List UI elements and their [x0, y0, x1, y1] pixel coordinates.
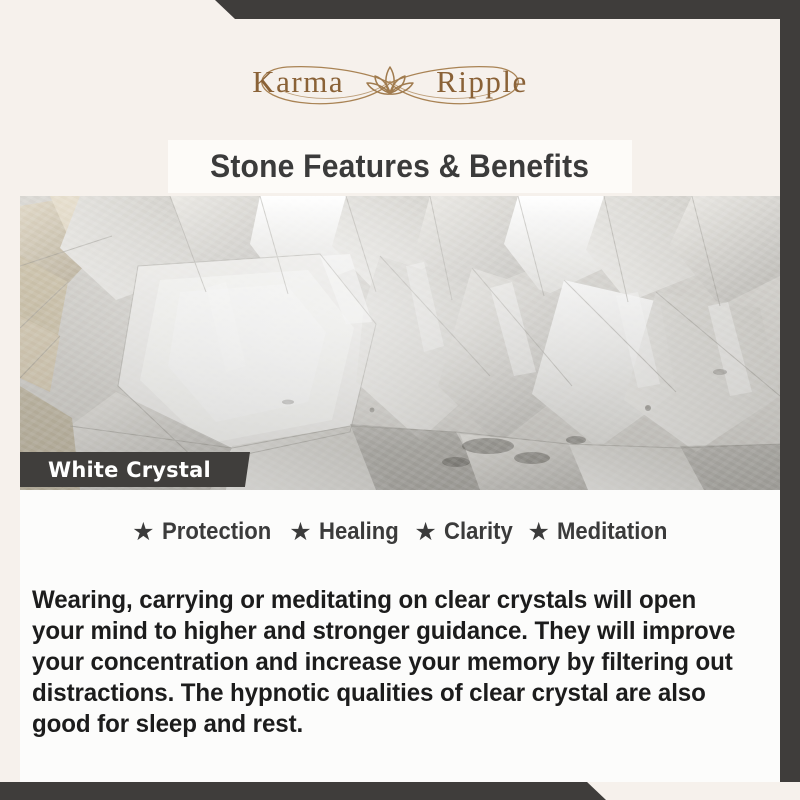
info-panel: ★ Protection ★ Healing ★ Clarity ★ Medit… [20, 490, 780, 782]
lotus-icon [364, 61, 416, 101]
star-icon: ★ [414, 520, 436, 545]
logo-inner: Karma Ripple [225, 43, 555, 119]
benefit-label: Clarity [444, 518, 513, 546]
benefit-item-clarity: ★ Clarity [405, 518, 518, 546]
stone-info-card: Karma Ripple Stone Features & Benefits [0, 0, 800, 800]
description-text: Wearing, carrying or meditating on clear… [32, 585, 742, 740]
brand-name-right: Ripple [436, 66, 528, 97]
star-icon: ★ [132, 520, 154, 545]
bottom-left-dark-accent [0, 781, 606, 800]
stone-name-band: White Crystal [20, 452, 250, 487]
benefit-item-protection: ★ Protection [123, 518, 280, 546]
photo-lighting-overlay [20, 196, 780, 490]
benefit-label: Meditation [557, 518, 667, 546]
page-title: Stone Features & Benefits [210, 148, 589, 185]
right-dark-edge [780, 19, 800, 782]
benefit-label: Healing [319, 518, 399, 546]
card-body: Karma Ripple Stone Features & Benefits [0, 19, 780, 782]
brand-name-left: Karma [252, 66, 344, 97]
stone-name-label: White Crystal [20, 458, 211, 482]
star-icon: ★ [527, 520, 549, 545]
top-right-dark-accent [215, 0, 800, 19]
crystal-photo [20, 196, 780, 490]
benefit-item-healing: ★ Healing [280, 518, 405, 546]
benefits-list: ★ Protection ★ Healing ★ Clarity ★ Medit… [20, 518, 780, 546]
star-icon: ★ [289, 520, 311, 545]
brand-logo: Karma Ripple [0, 41, 780, 121]
title-banner: Stone Features & Benefits [168, 140, 632, 193]
benefit-label: Protection [162, 518, 271, 546]
benefit-item-meditation: ★ Meditation [518, 518, 676, 546]
